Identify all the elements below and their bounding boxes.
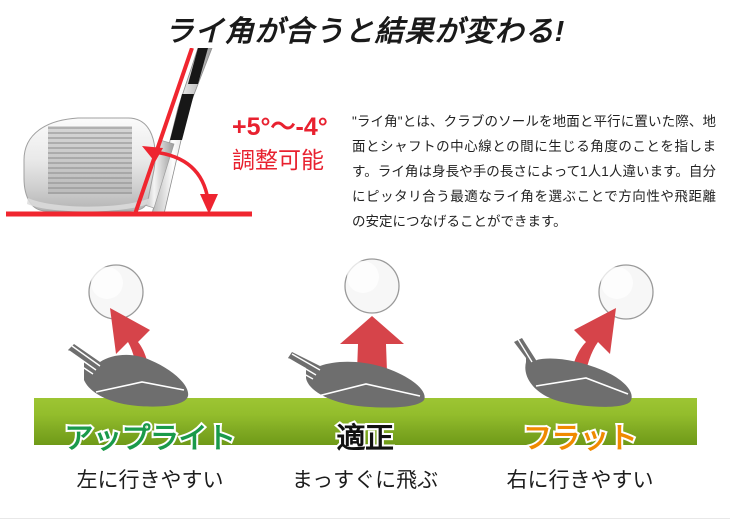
description-text: "ライ角"とは、クラブのソールを地面と平行に置いた際、地面とシャフトの中心線との… [352, 110, 716, 235]
caption-upright: アップライト 左に行きやすい [30, 424, 270, 494]
arc-arrowhead-lower [200, 194, 218, 214]
adjustment-degrees: +5°〜-4° [232, 112, 352, 143]
golf-ball-flat [599, 265, 653, 319]
infographic-root: ライ角が合うと結果が変わる! [0, 0, 730, 519]
caption-upright-sub: 左に行きやすい [30, 464, 270, 494]
club-head [24, 118, 155, 212]
club-head-upright [66, 344, 188, 407]
club-head-flat [514, 332, 632, 407]
diagram-proper [266, 250, 502, 410]
caption-row: アップライト 左に行きやすい 適正 まっすぐに飛ぶ フラット 右に行きやすい [0, 424, 730, 516]
caption-flat-sub: 右に行きやすい [460, 464, 700, 494]
club-head-proper [286, 352, 425, 408]
golf-ball-proper [345, 259, 399, 313]
caption-proper-sub: まっすぐに飛ぶ [245, 464, 485, 494]
caption-upright-head: アップライト [30, 424, 270, 454]
diagram-flat [474, 250, 710, 410]
caption-flat-head: フラット [460, 424, 700, 454]
caption-proper: 適正 まっすぐに飛ぶ [245, 424, 485, 494]
page-title: ライ角が合うと結果が変わる! [0, 8, 730, 50]
caption-flat: フラット 右に行きやすい [460, 424, 700, 494]
diagram-upright [38, 250, 274, 410]
adjustment-label: 調整可能 [232, 146, 352, 175]
caption-proper-head: 適正 [245, 424, 485, 454]
golf-ball-upright [89, 265, 143, 319]
adjustment-callout: +5°〜-4° 調整可能 [232, 112, 352, 175]
club-head-illustration [2, 48, 252, 223]
